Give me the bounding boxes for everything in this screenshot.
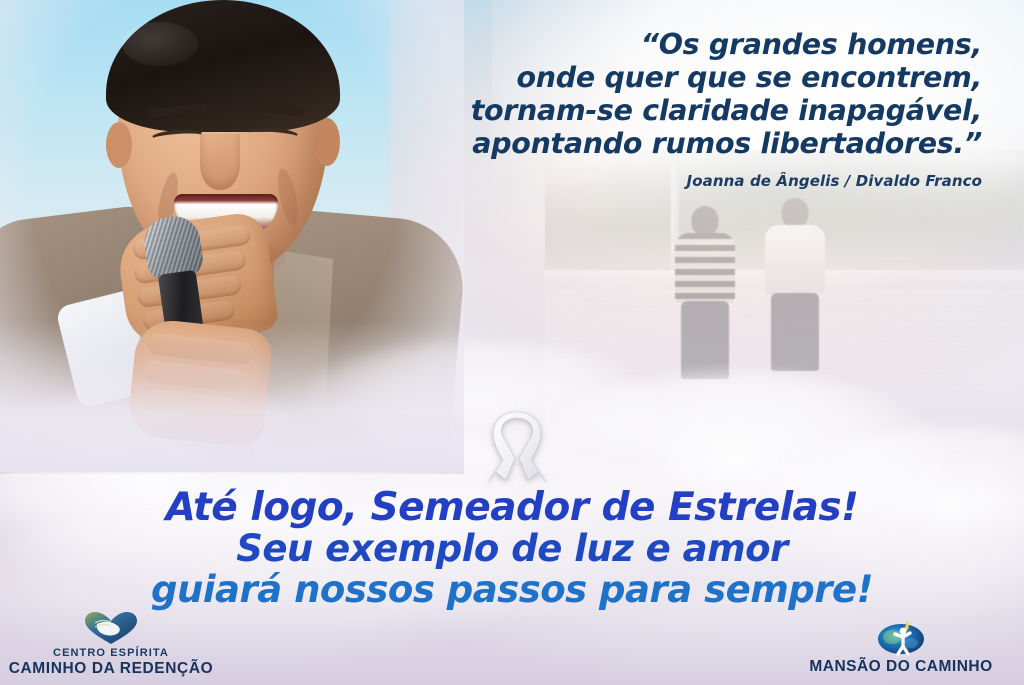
heart-hands-logo-icon bbox=[83, 611, 139, 645]
portrait-divaldo-franco bbox=[14, 0, 434, 464]
logo-right-line-1: MANSÃO DO CAMINHO bbox=[786, 658, 1016, 675]
logo-mansao-do-caminho: MANSÃO DO CAMINHO bbox=[786, 620, 1016, 675]
person-legs bbox=[681, 301, 729, 379]
person-head bbox=[782, 198, 809, 228]
quote-line-1: “Os grandes homens, bbox=[422, 28, 982, 61]
quote-attribution: Joanna de Ângelis / Divaldo Franco bbox=[422, 172, 982, 190]
headline-line-1: Até logo, Semeador de Estrelas! bbox=[0, 486, 1024, 529]
quote-line-2: onde quer que se encontrem, bbox=[422, 61, 982, 94]
background-person-striped-shirt bbox=[673, 206, 737, 378]
logo-centro-espirita: CENTRO ESPÍRITA CAMINHO DA REDENÇÃO bbox=[6, 611, 216, 677]
globe-figure-flame-logo-icon bbox=[876, 620, 926, 656]
quote-line-3: tornam-se claridade inapagável, bbox=[422, 94, 982, 127]
quote-line-4: apontando rumos libertadores.” bbox=[422, 127, 982, 160]
person-legs bbox=[771, 293, 819, 371]
background-person-white-shirt bbox=[763, 198, 827, 370]
person-head bbox=[692, 206, 719, 236]
logo-left-line-2: CAMINHO DA REDENÇÃO bbox=[6, 660, 216, 677]
person-torso bbox=[675, 233, 735, 303]
person-torso bbox=[765, 225, 825, 295]
quote-block: “Os grandes homens, onde quer que se enc… bbox=[422, 28, 982, 190]
logo-left-line-1: CENTRO ESPÍRITA bbox=[6, 647, 216, 660]
background-photo bbox=[545, 150, 1024, 450]
headline-block: Até logo, Semeador de Estrelas! Seu exem… bbox=[0, 486, 1024, 610]
white-mourning-ribbon-icon bbox=[486, 410, 548, 486]
portrait-bottom-fade bbox=[0, 322, 464, 472]
headline-line-3: guiará nossos passos para sempre! bbox=[0, 569, 1024, 610]
headline-line-2: Seu exemplo de luz e amor bbox=[0, 529, 1024, 569]
memorial-tribute-poster: “Os grandes homens, onde quer que se enc… bbox=[0, 0, 1024, 685]
